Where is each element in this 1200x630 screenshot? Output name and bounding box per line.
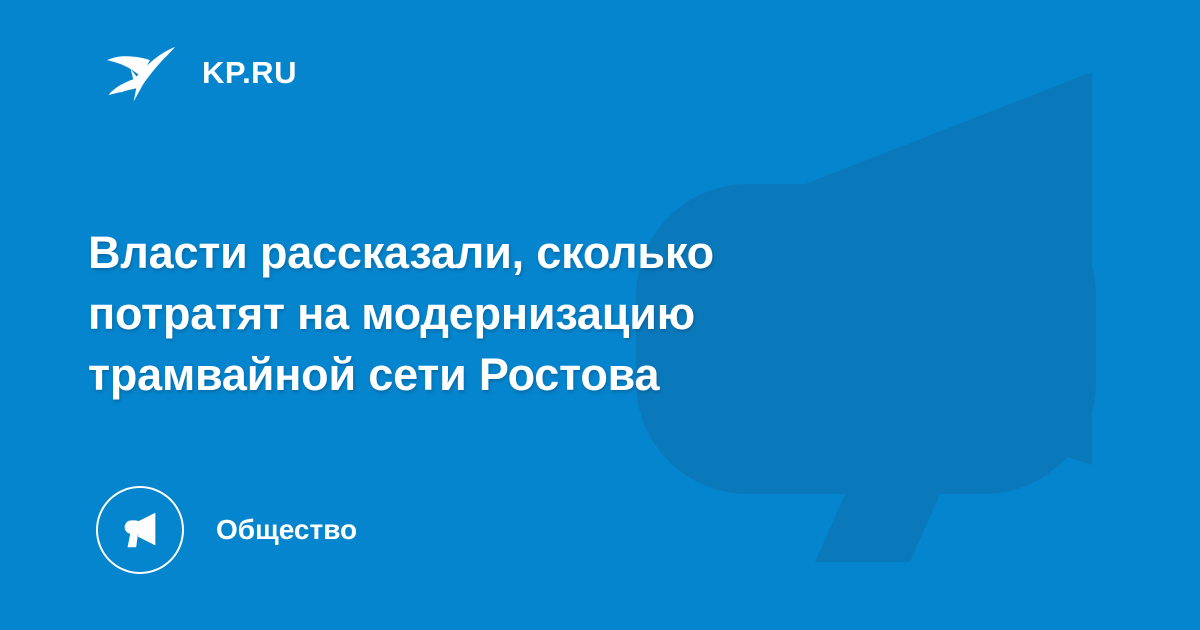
headline-line-2: потратят на модернизацию (88, 283, 928, 344)
brand-logo[interactable]: KP.RU (104, 36, 297, 108)
brand-name: KP.RU (202, 57, 297, 88)
category-badge[interactable]: Общество (96, 486, 357, 574)
swallow-bird-icon (104, 35, 178, 109)
headline-line-3: трамвайной сети Ростова (88, 344, 928, 405)
headline: Власти рассказали, сколько потратят на м… (88, 222, 928, 405)
category-label: Общество (216, 516, 357, 544)
category-icon-circle (96, 486, 184, 574)
headline-line-1: Власти рассказали, сколько (88, 222, 928, 283)
social-share-card: KP.RU Власти рассказали, сколько потратя… (0, 0, 1200, 630)
